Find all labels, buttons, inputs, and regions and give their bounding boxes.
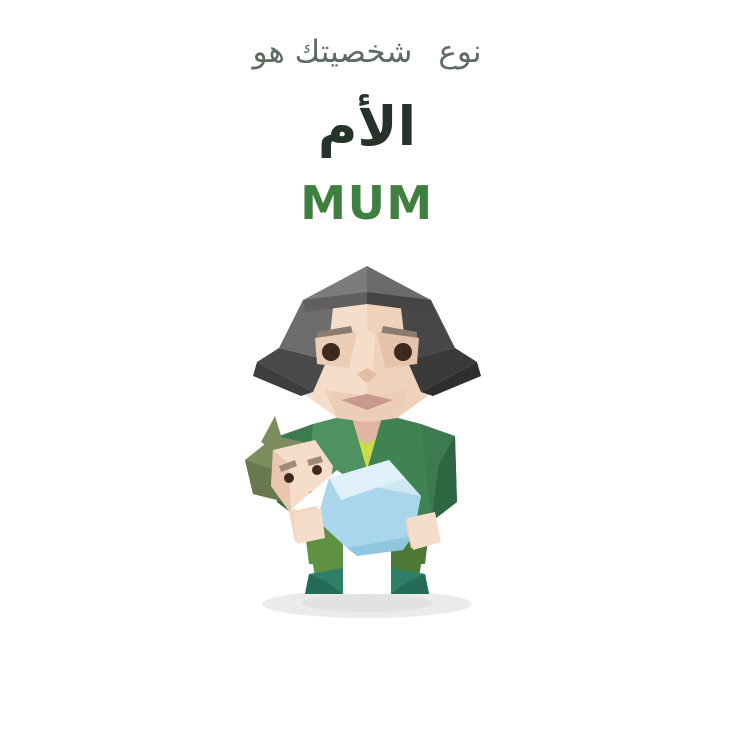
result-title-latin: MUM	[0, 158, 734, 226]
mother-left-hand	[293, 508, 325, 544]
baby-right-eye	[312, 465, 322, 475]
result-title-arabic: الأم	[0, 74, 734, 158]
result-subtitle-part1: نوع	[438, 34, 481, 70]
baby-left-eye	[284, 473, 294, 483]
mother-right-hand	[407, 512, 441, 550]
result-subtitle: نوعشخصيتك هو	[0, 0, 734, 74]
ground-shadow-core	[301, 594, 433, 612]
mother-holding-baby-illustration	[217, 264, 517, 634]
personality-result-card: نوعشخصيتك هو الأم MUM	[0, 0, 734, 730]
result-subtitle-part2: شخصيتك هو	[252, 34, 412, 70]
mother-head-group	[253, 266, 481, 422]
right-eye	[394, 343, 412, 361]
left-eye	[322, 343, 340, 361]
